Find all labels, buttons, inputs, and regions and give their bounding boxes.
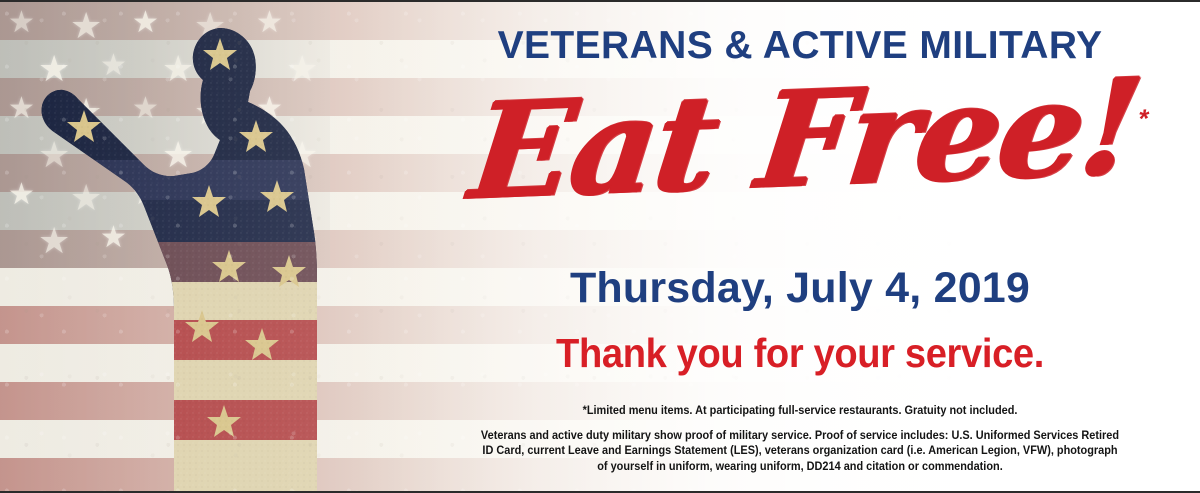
flag-star: ★	[38, 223, 70, 259]
flag-star: ★	[224, 137, 251, 167]
flag-star: ★	[70, 8, 102, 44]
flag-star: ★	[132, 180, 159, 210]
flag-star: ★	[194, 8, 226, 44]
flag-star: ★	[162, 137, 194, 173]
disclaimer-lead: *Limited menu items. At participating fu…	[449, 404, 1152, 420]
flag-star: ★	[100, 223, 127, 253]
eat-free-text: Eat Free!	[463, 50, 1147, 230]
flag-star: ★	[70, 94, 102, 130]
flag-star: ★	[70, 180, 102, 216]
flag-star: ★	[286, 51, 318, 87]
flag-star: ★	[194, 94, 226, 130]
flag-star: ★	[132, 94, 159, 124]
promo-banner: ★★★★★★★★★★★★★★★★★★★★★★★★★★★★★★	[0, 0, 1200, 493]
disclaimer-block: *Limited menu items. At participating fu…	[449, 404, 1152, 475]
flag-star: ★	[256, 94, 283, 124]
thank-you-message: Thank you for your service.	[456, 330, 1144, 377]
flag-star: ★	[162, 223, 194, 259]
flag-star: ★	[8, 94, 35, 124]
flag-star: ★	[256, 180, 283, 210]
disclaimer-line-2: ID Card, current Leave and Earnings Stat…	[449, 444, 1152, 460]
flag-star: ★	[286, 137, 318, 173]
disclaimer-line-1: Veterans and active duty military show p…	[449, 429, 1152, 445]
flag-star: ★	[162, 51, 194, 87]
flag-star: ★	[132, 8, 159, 38]
flag-star: ★	[194, 180, 226, 216]
banner-content: VETERANS & ACTIVE MILITARY Eat Free!* Th…	[430, 2, 1200, 493]
disclaimer-line-3: of yourself in uniform, wearing uniform,…	[449, 460, 1152, 476]
flag-star: ★	[8, 180, 35, 210]
eat-free-wordmark: Eat Free!*	[430, 74, 1190, 206]
eat-free-script: Eat Free!*	[464, 61, 1155, 219]
flag-star: ★	[8, 8, 35, 38]
asterisk-mark: *	[1137, 105, 1150, 131]
flag-star: ★	[256, 8, 283, 38]
flag-canton: ★★★★★★★★★★★★★★★★★★★★★★★★★★★★★★	[0, 2, 330, 268]
event-date: Thursday, July 4, 2019	[430, 264, 1170, 313]
flag-star: ★	[38, 51, 70, 87]
flag-star: ★	[286, 223, 318, 259]
flag-star: ★	[100, 137, 127, 167]
flag-star: ★	[224, 51, 251, 81]
flag-star: ★	[224, 223, 251, 253]
flag-star: ★	[100, 51, 127, 81]
flag-star: ★	[38, 137, 70, 173]
